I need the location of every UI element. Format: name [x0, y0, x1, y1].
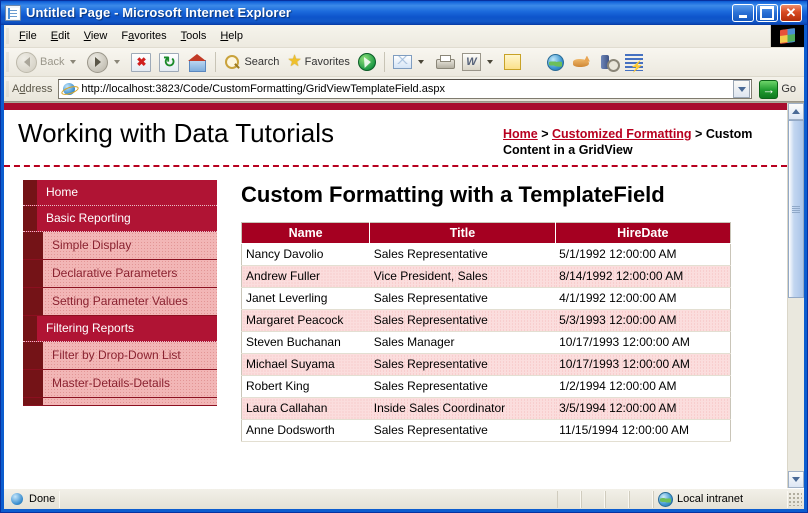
cell-hiredate: 10/17/1993 12:00:00 AM [555, 332, 730, 354]
table-row: Steven Buchanan Sales Manager 10/17/1993… [242, 332, 731, 354]
sidebar-item-label: Filter by Drop-Down List [43, 342, 217, 369]
sidebar-item-label: Basic Reporting [37, 206, 217, 231]
cell-name: Michael Suyama [242, 354, 370, 376]
refresh-icon [159, 53, 179, 72]
cell-title: Sales Representative [370, 244, 555, 266]
sidebar-item-label: Setting Parameter Values [43, 288, 217, 315]
cell-name: Laura Callahan [242, 398, 370, 420]
sidebar-item-label: Master-Details-Details [43, 370, 217, 397]
window-title: Untitled Page - Microsoft Internet Explo… [26, 5, 291, 20]
page-header: Working with Data Tutorials Home > Custo… [4, 110, 787, 167]
messenger-icon [599, 54, 617, 71]
employees-gridview: Name Title HireDate Nancy Davolio Sales … [241, 222, 731, 442]
menu-file[interactable]: File [12, 28, 44, 44]
stop-button[interactable] [127, 50, 155, 74]
media-icon [358, 53, 376, 71]
sidebar-nav: Home Basic Reporting Simple Display [23, 180, 217, 406]
sidebar-accent-bar [23, 398, 43, 405]
forward-button[interactable] [83, 50, 127, 74]
chevron-up-icon [792, 109, 800, 114]
cell-title: Sales Representative [370, 420, 555, 442]
table-row: Nancy Davolio Sales Representative 5/1/1… [242, 244, 731, 266]
address-label: Address [12, 83, 55, 95]
home-icon [187, 53, 207, 72]
minimize-button[interactable] [732, 4, 754, 22]
cell-title: Sales Representative [370, 310, 555, 332]
window-controls: ✕ [732, 4, 805, 22]
breadcrumb-link-section[interactable]: Customized Formatting [552, 127, 692, 141]
print-button[interactable] [431, 50, 458, 74]
menu-help[interactable]: Help [213, 28, 250, 44]
sidebar-accent-bar [23, 180, 37, 205]
toolbar-divider [215, 52, 216, 72]
cell-name: Robert King [242, 376, 370, 398]
sidebar-accent-bar [23, 342, 43, 369]
close-button[interactable]: ✕ [780, 4, 802, 22]
status-pane-1 [557, 491, 581, 508]
search-button[interactable]: Search [220, 50, 283, 74]
menu-edit[interactable]: Edit [44, 28, 77, 44]
code-icon [625, 54, 643, 71]
security-zone[interactable]: Local intranet [653, 491, 788, 508]
close-icon: ✕ [786, 6, 797, 19]
scroll-down-button[interactable] [788, 471, 804, 488]
notes-icon [504, 54, 521, 70]
page-top-band [4, 103, 787, 110]
table-row: Margaret Peacock Sales Representative 5/… [242, 310, 731, 332]
sidebar-item-master-details-details[interactable]: Master-Details-Details [23, 370, 217, 398]
zone-text: Local intranet [677, 493, 743, 505]
status-pane-4 [629, 491, 653, 508]
edit-in-word-icon: W [462, 53, 481, 71]
sidebar-item-simple-display[interactable]: Simple Display [23, 232, 217, 260]
ie-brand-logo [770, 25, 804, 47]
sidebar-accent-bar [23, 206, 37, 231]
sidebar-item-declarative-parameters[interactable]: Declarative Parameters [23, 260, 217, 288]
table-row: Anne Dodsworth Sales Representative 11/1… [242, 420, 731, 442]
browser-chrome: File Edit View Favorites Tools Help Back [1, 25, 807, 512]
globe-button[interactable] [543, 50, 568, 74]
refresh-button[interactable] [155, 50, 183, 74]
toolbar-divider-2 [384, 52, 385, 72]
sidebar-accent-bar [23, 370, 43, 397]
sidebar-item-filter-by-drop-down-list[interactable]: Filter by Drop-Down List [23, 342, 217, 370]
cell-name: Steven Buchanan [242, 332, 370, 354]
sidebar-item-label: Home [37, 180, 217, 205]
menu-favorites[interactable]: Favorites [114, 28, 173, 44]
status-bar: Done Local intranet [4, 488, 804, 509]
status-pane-2 [581, 491, 605, 508]
sidebar-item-filtering-reports[interactable]: Filtering Reports [23, 316, 217, 342]
table-row: Laura Callahan Inside Sales Coordinator … [242, 398, 731, 420]
page-status-icon [10, 492, 25, 507]
cell-title: Vice President, Sales [370, 266, 555, 288]
favorites-button[interactable]: ★ Favorites [283, 50, 354, 74]
favorites-star-icon: ★ [287, 54, 301, 70]
print-icon [435, 55, 454, 70]
cell-name: Nancy Davolio [242, 244, 370, 266]
address-bar: Address http://localhost:3823/Code/Custo… [4, 77, 804, 102]
scrollbar-track[interactable] [788, 120, 804, 471]
title-bar: Untitled Page - Microsoft Internet Explo… [1, 1, 807, 25]
vertical-scrollbar[interactable] [787, 103, 804, 488]
cell-hiredate: 5/1/1992 12:00:00 AM [555, 244, 730, 266]
messenger-button[interactable] [595, 50, 621, 74]
column-header-title[interactable]: Title [370, 223, 555, 244]
page-title: Custom Formatting with a TemplateField [241, 181, 771, 208]
code-button[interactable] [621, 50, 647, 74]
sidebar-item-partial[interactable] [23, 398, 217, 406]
address-input[interactable]: http://localhost:3823/Code/CustomFormatt… [58, 79, 752, 99]
mail-icon [393, 55, 412, 69]
menu-tools[interactable]: Tools [174, 28, 214, 44]
edit-in-word-button[interactable]: W [458, 50, 500, 74]
globe-icon [547, 54, 564, 71]
media-button[interactable] [354, 50, 380, 74]
forward-icon [87, 52, 108, 73]
sidebar-item-label: Filtering Reports [37, 316, 217, 341]
cell-hiredate: 8/14/1992 12:00:00 AM [555, 266, 730, 288]
chevron-down-icon [792, 477, 800, 482]
breadcrumb-sep-1: > [538, 127, 552, 141]
toolbar-divider-3 [529, 52, 539, 72]
fox-icon [572, 55, 591, 70]
column-header-name[interactable]: Name [242, 223, 370, 244]
sidebar-item-home[interactable]: Home [23, 180, 217, 206]
main-content: Custom Formatting with a TemplateField N… [217, 167, 787, 442]
menu-bar: File Edit View Favorites Tools Help [4, 25, 804, 48]
address-dropdown-button[interactable] [733, 80, 750, 98]
web-page: Working with Data Tutorials Home > Custo… [4, 103, 787, 488]
sidebar-item-label: Declarative Parameters [43, 260, 217, 287]
scroll-up-button[interactable] [788, 103, 804, 120]
sidebar-accent-bar [23, 288, 43, 315]
tool-bar: Back Search ★ Favorite [4, 48, 804, 77]
cell-title: Inside Sales Coordinator [370, 398, 555, 420]
breadcrumb-link-home[interactable]: Home [503, 127, 538, 141]
cell-hiredate: 10/17/1993 12:00:00 AM [555, 354, 730, 376]
home-button[interactable] [183, 50, 211, 74]
page-viewport: Working with Data Tutorials Home > Custo… [4, 102, 804, 488]
cell-title: Sales Representative [370, 354, 555, 376]
sidebar-item-basic-reporting[interactable]: Basic Reporting [23, 206, 217, 232]
back-icon [16, 52, 37, 73]
back-button[interactable]: Back [12, 50, 83, 74]
cell-title: Sales Manager [370, 332, 555, 354]
cell-name: Andrew Fuller [242, 266, 370, 288]
cell-title: Sales Representative [370, 376, 555, 398]
cell-name: Anne Dodsworth [242, 420, 370, 442]
go-button[interactable]: Go [755, 80, 800, 99]
status-pane-3 [605, 491, 629, 508]
table-header-row: Name Title HireDate [242, 223, 731, 244]
menu-view[interactable]: View [77, 28, 115, 44]
sidebar-item-label: Simple Display [43, 232, 217, 259]
cell-name: Janet Leverling [242, 288, 370, 310]
back-dropdown-icon[interactable] [70, 60, 76, 64]
stop-icon [131, 53, 151, 72]
breadcrumb-sep-2: > [692, 127, 706, 141]
cell-hiredate: 5/3/1993 12:00:00 AM [555, 310, 730, 332]
fox-button[interactable] [568, 50, 595, 74]
status-text: Done [29, 493, 55, 505]
intranet-zone-icon [658, 492, 673, 507]
address-url-text: http://localhost:3823/Code/CustomFormatt… [81, 83, 733, 95]
grip-icon [792, 206, 800, 213]
table-row: Andrew Fuller Vice President, Sales 8/14… [242, 266, 731, 288]
table-row: Michael Suyama Sales Representative 10/1… [242, 354, 731, 376]
notes-button[interactable] [500, 50, 525, 74]
go-arrow-icon [759, 80, 778, 99]
page-body: Home Basic Reporting Simple Display [4, 167, 787, 442]
page-globe-icon [61, 81, 77, 97]
site-title: Working with Data Tutorials [18, 118, 334, 148]
table-row: Robert King Sales Representative 1/2/199… [242, 376, 731, 398]
column-header-hiredate[interactable]: HireDate [555, 223, 730, 244]
ie-browser-window: Untitled Page - Microsoft Internet Explo… [0, 0, 808, 513]
resize-grip-icon[interactable] [788, 492, 802, 506]
breadcrumb: Home > Customized Formatting > Custom Co… [473, 118, 773, 158]
scrollbar-thumb[interactable] [788, 120, 804, 298]
table-row: Janet Leverling Sales Representative 4/1… [242, 288, 731, 310]
mail-dropdown-icon[interactable] [418, 60, 424, 64]
page-icon [5, 5, 21, 21]
cell-title: Sales Representative [370, 288, 555, 310]
sidebar-accent-bar [23, 260, 43, 287]
sidebar-accent-bar [23, 232, 43, 259]
sidebar-item-setting-parameter-values[interactable]: Setting Parameter Values [23, 288, 217, 316]
sidebar-accent-bar [23, 316, 37, 341]
cell-hiredate: 1/2/1994 12:00:00 AM [555, 376, 730, 398]
edit-dropdown-icon[interactable] [487, 60, 493, 64]
forward-dropdown-icon[interactable] [114, 60, 120, 64]
cell-hiredate: 3/5/1994 12:00:00 AM [555, 398, 730, 420]
cell-hiredate: 4/1/1992 12:00:00 AM [555, 288, 730, 310]
search-icon [224, 54, 241, 71]
mail-button[interactable] [389, 50, 431, 74]
maximize-button[interactable] [756, 4, 778, 22]
status-message: Done [4, 491, 60, 508]
cell-hiredate: 11/15/1994 12:00:00 AM [555, 420, 730, 442]
cell-name: Margaret Peacock [242, 310, 370, 332]
